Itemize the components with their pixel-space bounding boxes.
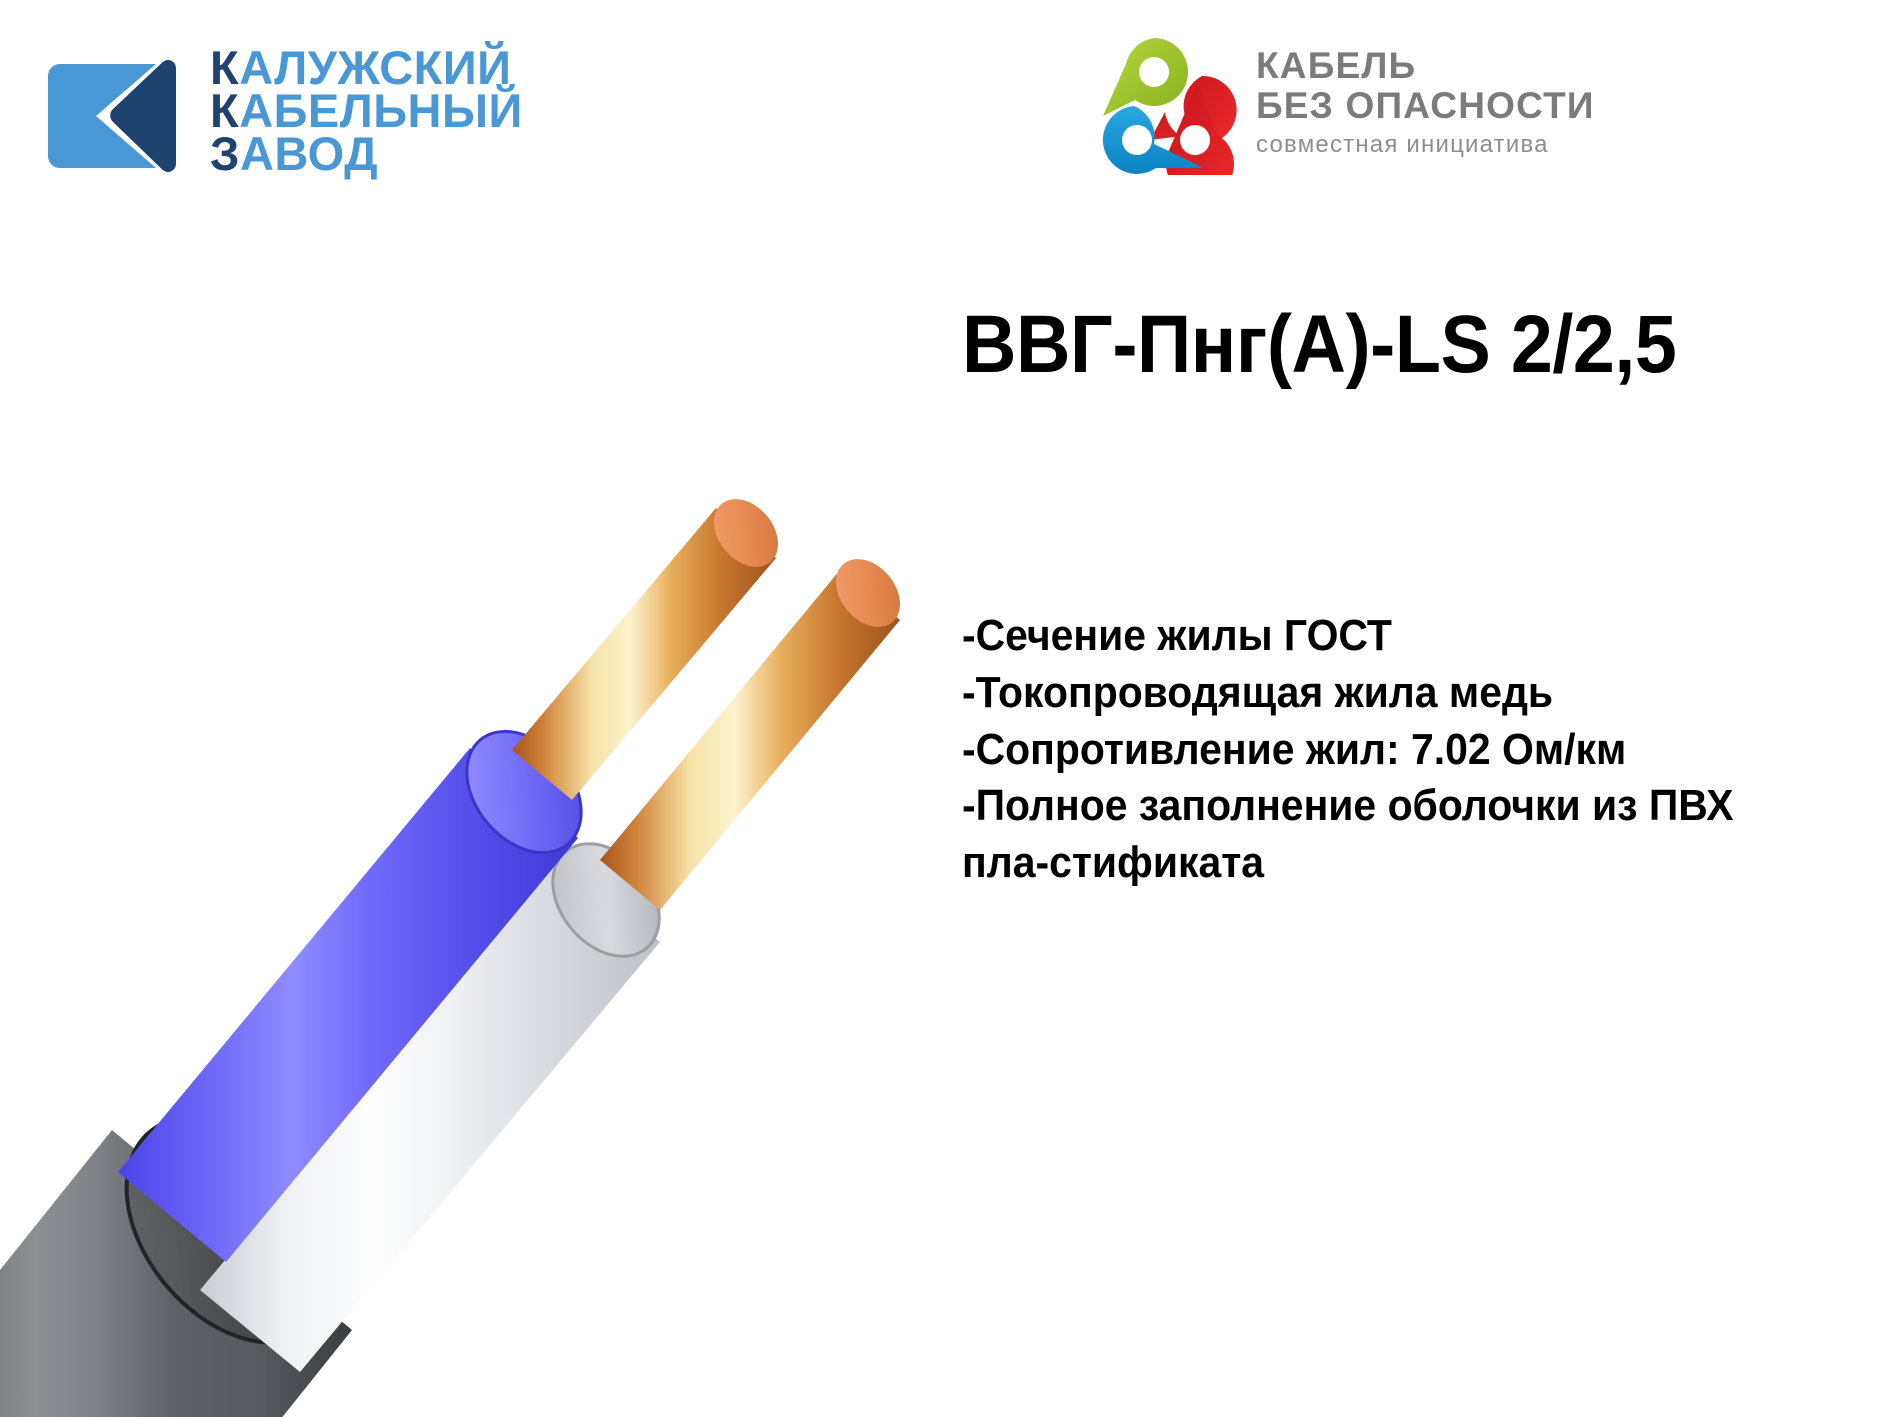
cable-cross-section-illustration (0, 430, 960, 1417)
product-title: ВВГ-Пнг(А)-LS 2/2,5 (962, 298, 1676, 392)
feature-item-3: -Сопротивление жил: 7.02 Ом/км (962, 722, 1818, 779)
kkz-wordmark-line-1: КАЛУЖСКИЙ (210, 46, 523, 89)
kbo-line-1: КАБЕЛЬ (1256, 46, 1595, 86)
kbo-wordmark: КАБЕЛЬ БЕЗ ОПАСНОСТИ совместная инициати… (1256, 46, 1595, 160)
product-features-list: -Сечение жилы ГОСТ -Токопроводящая жила … (962, 608, 1818, 892)
kkz-logo-mark-icon (36, 42, 188, 190)
feature-item-4: -Полное заполнение оболочки из ПВХ пла-с… (962, 778, 1818, 892)
kkz-line3-rest: АВОД (240, 127, 378, 180)
poster-canvas: КАЛУЖСКИЙ КАБЕЛЬНЫЙ ЗАВОД (0, 0, 1890, 1417)
kabel-bez-opasnosti-logo: КАБЕЛЬ БЕЗ ОПАСНОСТИ совместная инициати… (1090, 30, 1595, 175)
feature-item-1: -Сечение жилы ГОСТ (962, 608, 1818, 665)
kaluga-cable-plant-logo: КАЛУЖСКИЙ КАБЕЛЬНЫЙ ЗАВОД (36, 42, 523, 190)
kbo-subtitle: совместная инициатива (1256, 131, 1595, 159)
kbo-line-2: БЕЗ ОПАСНОСТИ (1256, 86, 1595, 126)
kkz-wordmark-line-2: КАБЕЛЬНЫЙ (210, 89, 523, 132)
kkz-wordmark-line-3: ЗАВОД (210, 132, 523, 175)
kkz-line3-lead: З (210, 127, 240, 180)
triangle-droplets-icon (1090, 30, 1240, 175)
kkz-wordmark: КАЛУЖСКИЙ КАБЕЛЬНЫЙ ЗАВОД (210, 46, 523, 176)
feature-item-2: -Токопроводящая жила медь (962, 665, 1818, 722)
